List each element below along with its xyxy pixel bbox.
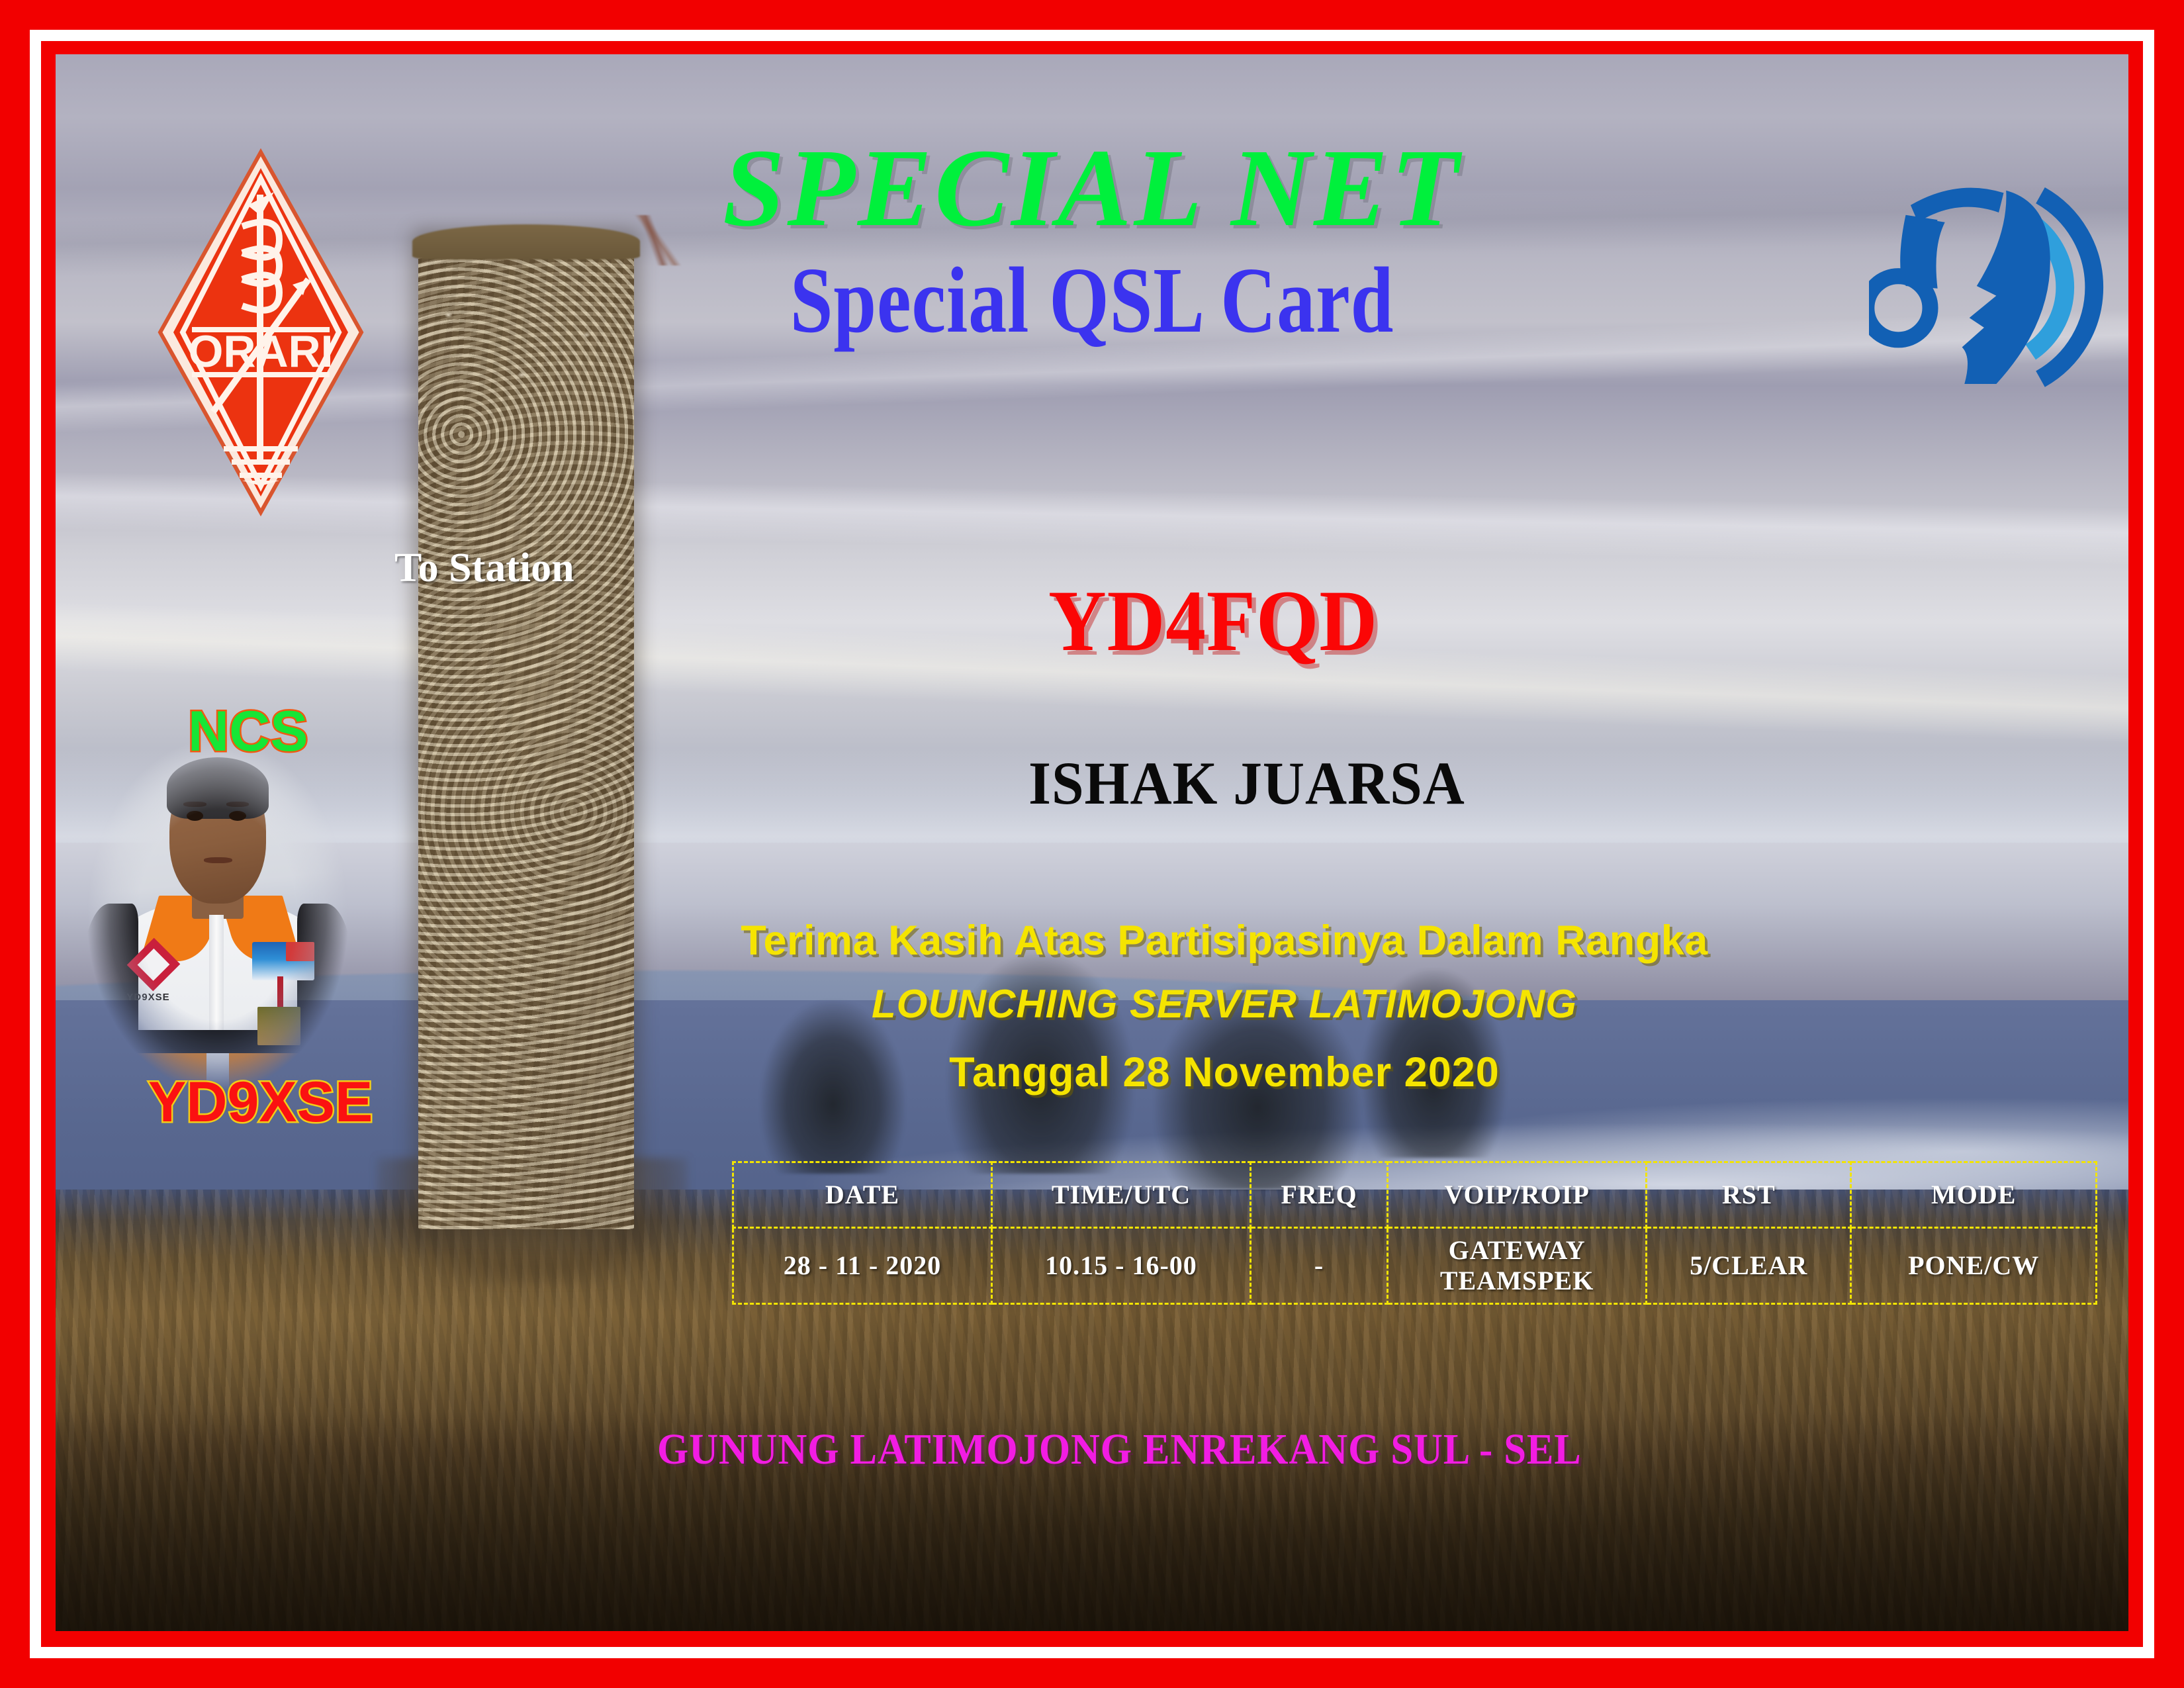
cell-date: 28 - 11 - 2020 xyxy=(733,1228,992,1304)
table-row: 28 - 11 - 2020 10.15 - 16-00 - GATEWAY T… xyxy=(733,1228,2097,1304)
page-subtitle: Special QSL Card xyxy=(242,253,1942,347)
page-title: SPECIAL NET xyxy=(56,132,2128,244)
column-header-time: TIME/UTC xyxy=(991,1162,1250,1228)
cell-mode: PONE/CW xyxy=(1851,1228,2097,1304)
recipient-operator-name: ISHAK JUARSA xyxy=(1028,753,1465,814)
thanks-line-1: Terima Kasih Atas Partisipasinya Dalam R… xyxy=(56,917,2128,964)
column-header-voip: VOIP/ROIP xyxy=(1388,1162,1647,1228)
cell-voip-roip-line-1: GATEWAY xyxy=(1388,1235,1645,1266)
column-header-rst: RST xyxy=(1647,1162,1851,1228)
table-header-row: DATE TIME/UTC FREQ VOIP/ROIP RST MODE xyxy=(733,1162,2097,1228)
qsl-card: ORARI xyxy=(0,0,2184,1688)
card-background-photo: ORARI xyxy=(56,54,2128,1631)
to-station-label: To Station xyxy=(394,547,574,588)
event-location-line: GUNUNG LATIMOJONG ENREKANG SUL - SEL xyxy=(138,1428,2045,1472)
cell-rst: 5/CLEAR xyxy=(1647,1228,1851,1304)
cell-time-utc: 10.15 - 16-00 xyxy=(991,1228,1250,1304)
ncs-label: NCS xyxy=(188,703,308,760)
cell-freq: - xyxy=(1250,1228,1387,1304)
column-header-mode: MODE xyxy=(1851,1162,2097,1228)
column-header-freq: FREQ xyxy=(1250,1162,1387,1228)
thanks-line-2: LOUNCHING SERVER LATIMOJONG xyxy=(56,981,2128,1027)
qso-log-table: DATE TIME/UTC FREQ VOIP/ROIP RST MODE 28… xyxy=(732,1161,2097,1305)
cell-voip-roip: GATEWAY TEAMSPEK xyxy=(1388,1228,1647,1304)
cell-voip-roip-line-2: TEAMSPEK xyxy=(1388,1266,1645,1296)
column-header-date: DATE xyxy=(733,1162,992,1228)
ncs-callsign: YD9XSE xyxy=(148,1074,373,1131)
recipient-callsign: YD4FQD xyxy=(1048,577,1378,665)
